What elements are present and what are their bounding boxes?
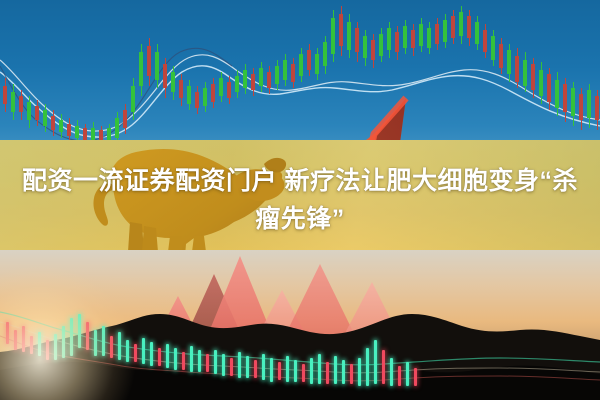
bottom-trend-lines [0,296,600,400]
bottom-candlestick-chart [0,296,600,400]
headline-line-1: 配资一流证券配资门户 新疗法让肥大细胞变身“杀 [6,162,594,200]
headline-line-2: 瘤先锋” [6,200,594,238]
headline-text: 配资一流证券配资门户 新疗法让肥大细胞变身“杀 瘤先锋” [0,162,600,238]
finance-banner-image: 配资一流证券配资门户 新疗法让肥大细胞变身“杀 瘤先锋” [0,0,600,400]
